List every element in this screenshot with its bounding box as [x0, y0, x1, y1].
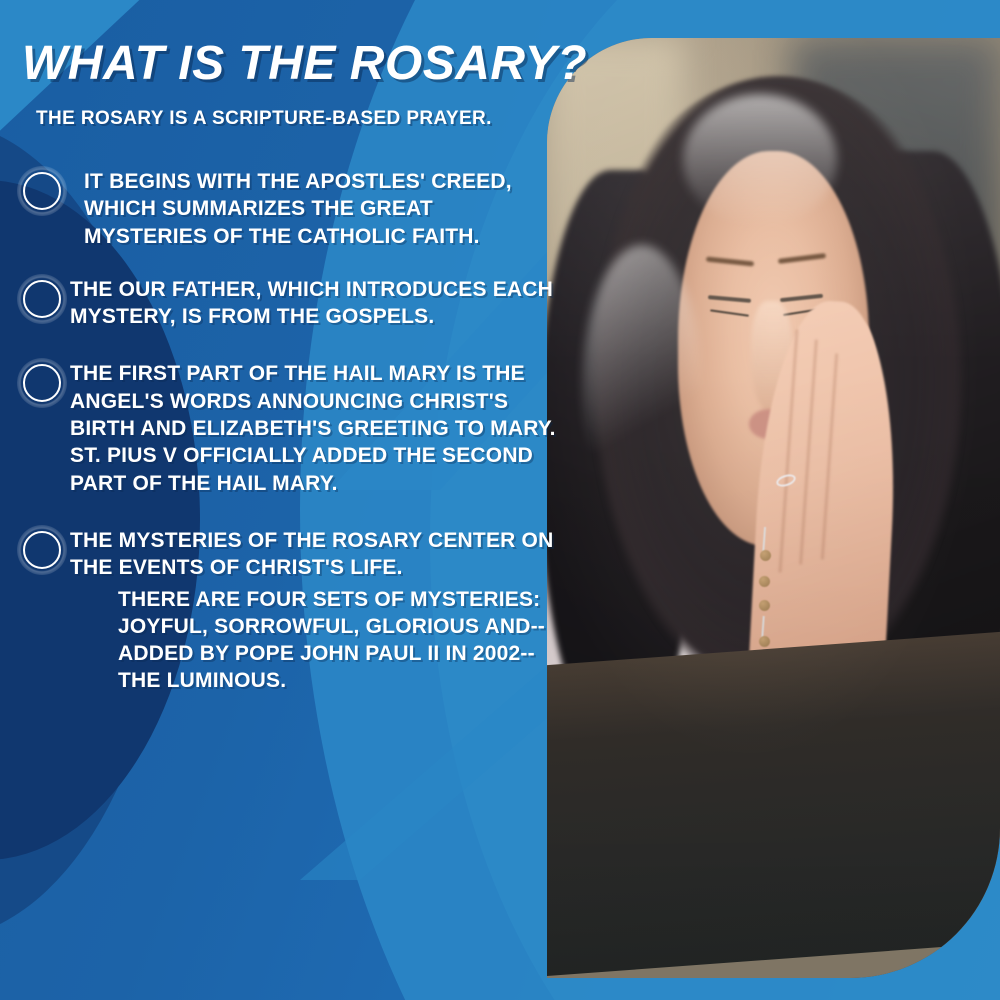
open-circle-ring-icon: [23, 531, 61, 569]
open-circle-icon: [21, 362, 63, 404]
bullet-marker: [14, 360, 70, 406]
photo-hair-highlight-left: [583, 245, 701, 527]
rosary-bead: [759, 576, 770, 587]
rosary-bead: [759, 600, 770, 611]
list-item-text: THE FIRST PART OF THE HAIL MARY IS THE A…: [70, 360, 560, 496]
bullet-marker: [14, 527, 70, 573]
open-circle-icon: [21, 170, 63, 212]
page-title: WHAT IS THE ROSARY?: [22, 36, 587, 91]
rosary-infographic-poster: WHAT IS THE ROSARY? THE ROSARY IS A SCRI…: [0, 0, 1000, 1000]
photo-hair-highlight-top: [683, 94, 837, 226]
list-item-text: IT BEGINS WITH THE APOSTLES' CREED, WHIC…: [84, 168, 560, 250]
page-subtitle: THE ROSARY IS A SCRIPTURE-BASED PRAYER.: [36, 108, 492, 130]
praying-woman-photo: [547, 38, 1000, 978]
list-item-text: THE OUR FATHER, WHICH INTRODUCES EACH MY…: [70, 276, 560, 331]
photo-dark-table: [547, 629, 1000, 978]
list-item-text: THE MYSTERIES OF THE ROSARY CENTER ON TH…: [70, 527, 560, 582]
bullet-marker: [14, 276, 70, 322]
list-item: THE OUR FATHER, WHICH INTRODUCES EACH MY…: [0, 276, 560, 331]
list-item: THE MYSTERIES OF THE ROSARY CENTER ON TH…: [0, 527, 560, 695]
text-column: WHAT IS THE ROSARY? THE ROSARY IS A SCRI…: [0, 0, 560, 1000]
list-item-sub-note: THERE ARE FOUR SETS OF MYSTERIES: JOYFUL…: [118, 586, 560, 695]
list-item: THE FIRST PART OF THE HAIL MARY IS THE A…: [0, 360, 560, 496]
bullet-marker: [14, 168, 70, 214]
bullet-list: IT BEGINS WITH THE APOSTLES' CREED, WHIC…: [0, 168, 560, 717]
open-circle-icon: [21, 529, 63, 571]
open-circle-icon: [21, 278, 63, 320]
open-circle-ring-icon: [23, 172, 61, 210]
open-circle-ring-icon: [23, 280, 61, 318]
list-item: IT BEGINS WITH THE APOSTLES' CREED, WHIC…: [0, 168, 560, 250]
